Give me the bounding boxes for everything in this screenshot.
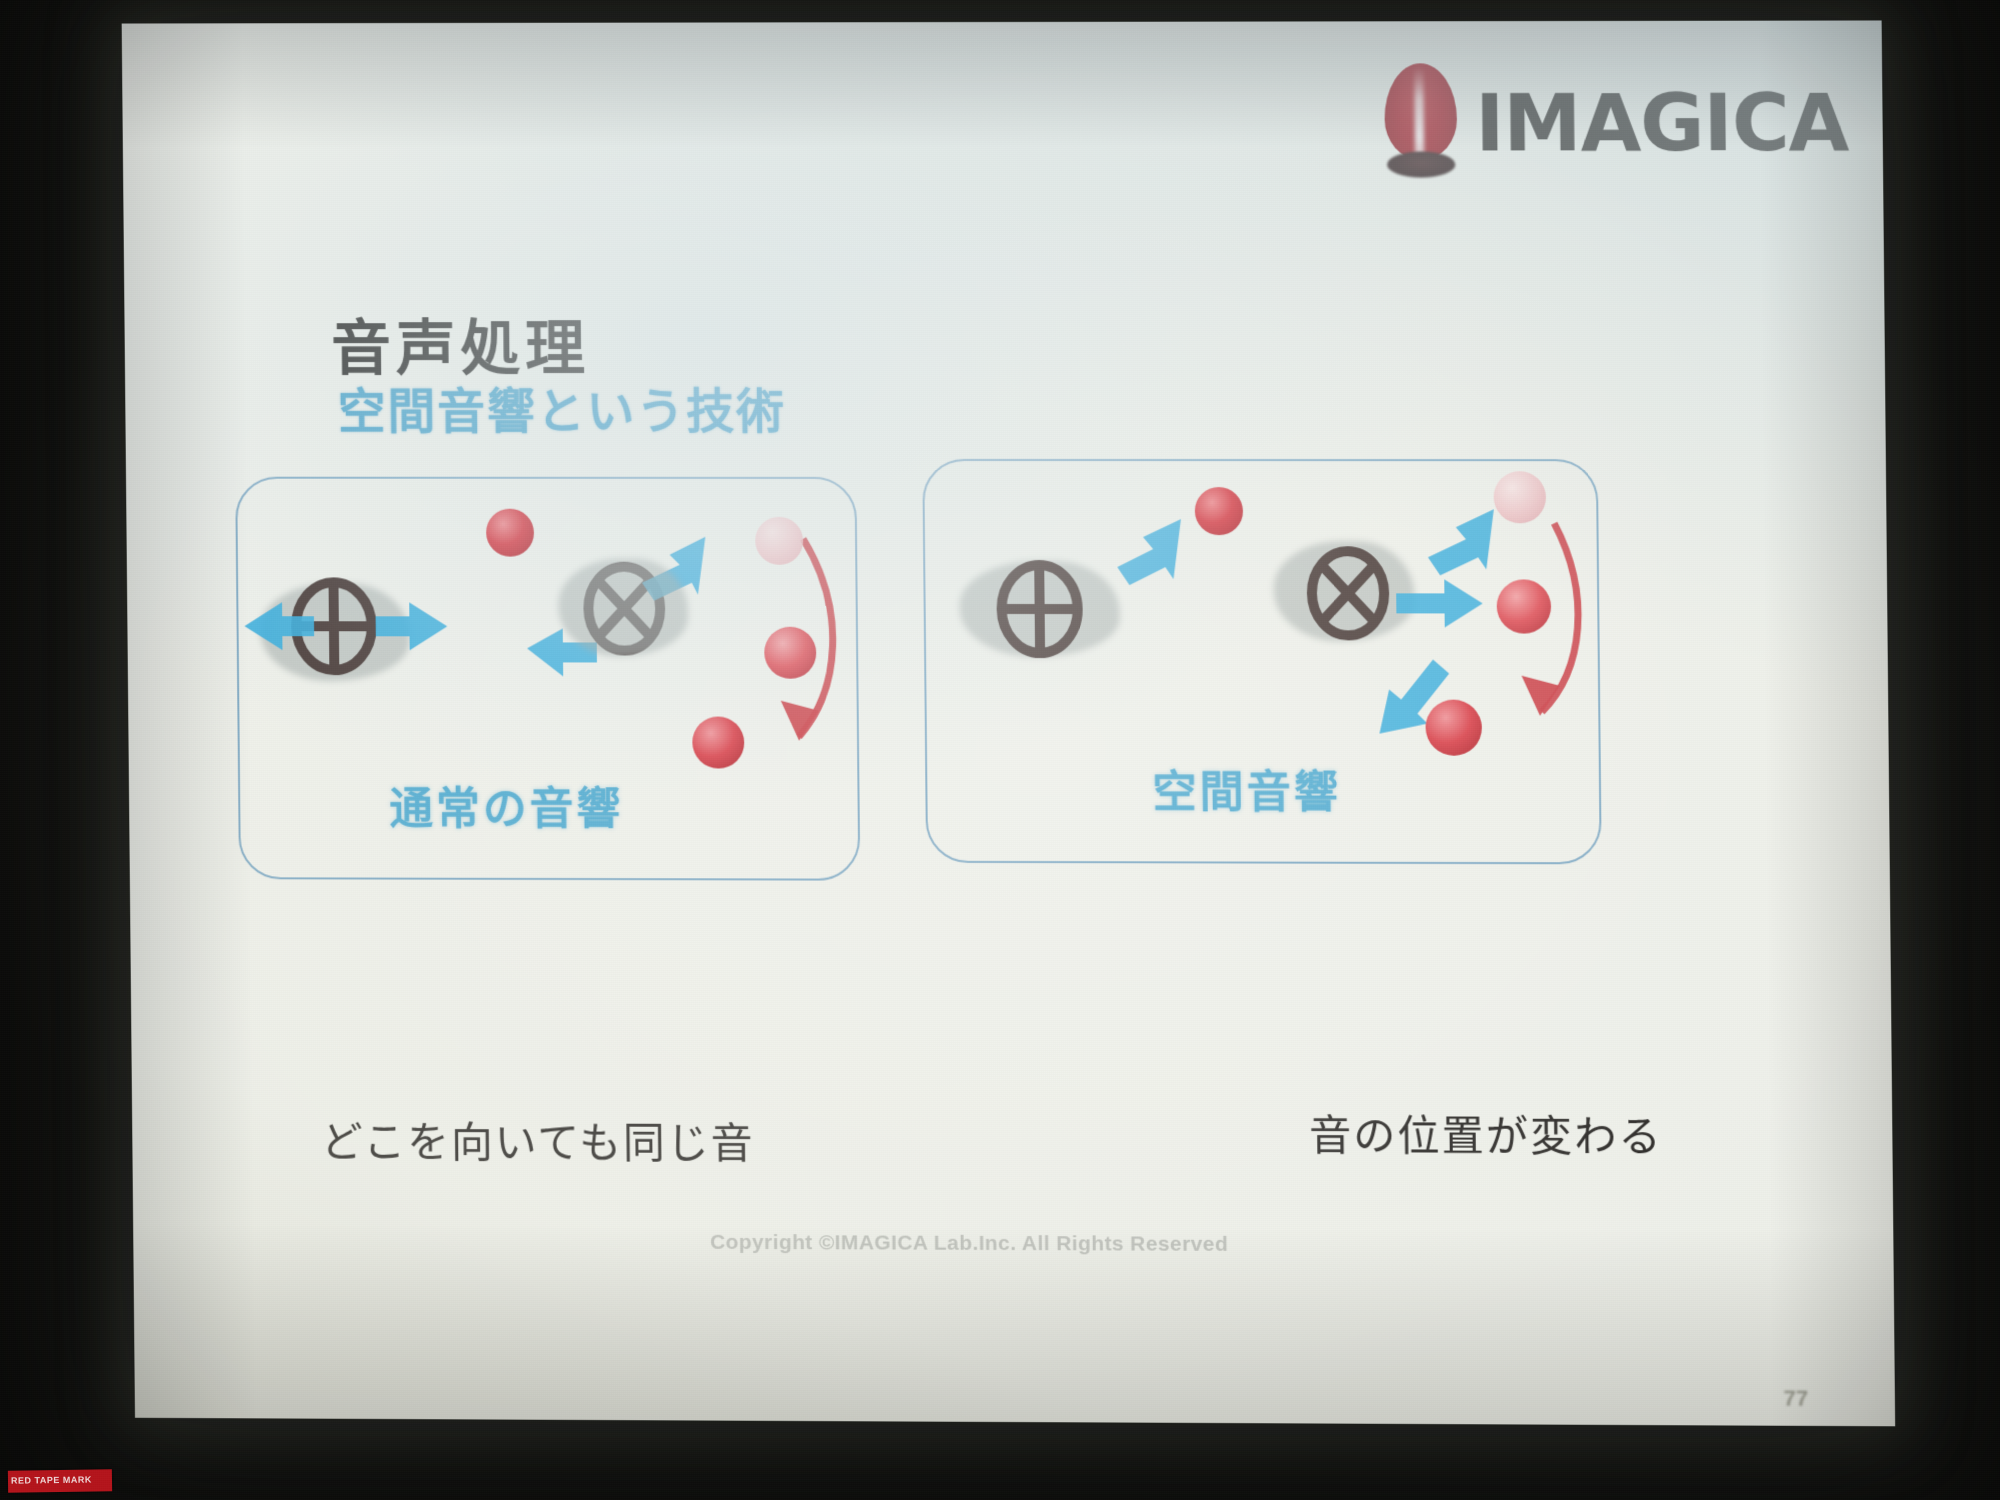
panel-label-spatial: 空間音響 — [1152, 756, 1341, 820]
shoulders-blob-right-b — [1273, 541, 1414, 641]
caption-normal: どこを向いても同じ音 — [321, 1115, 819, 1172]
sound-source-ball — [1195, 487, 1244, 535]
sound-source-ball — [486, 509, 534, 557]
sound-source-ball-mid — [1496, 579, 1551, 633]
copyright-notice: Copyright ©IMAGICA Lab.Inc. All Rights R… — [710, 1231, 1228, 1257]
red-tape-marker: RED TAPE MARK — [8, 1469, 112, 1492]
sound-source-ball-faded — [755, 517, 803, 565]
sound-source-ball-low — [1425, 700, 1482, 756]
sound-arrow-diagonal-inbound — [1117, 519, 1182, 585]
caption-spatial: 音の位置が変わる — [1309, 1108, 1832, 1165]
imagica-wordmark: IMAGICA — [1475, 85, 1849, 164]
panel-label-normal: 通常の音響 — [389, 773, 624, 837]
shoulders-blob-left-b — [558, 559, 688, 657]
page-number: 77 — [1783, 1386, 1808, 1412]
red-tape-label: RED TAPE MARK — [8, 1469, 112, 1490]
projection-screen: IMAGICA 音声処理 空間音響という技術 — [122, 20, 1896, 1426]
sound-source-ball-low — [692, 717, 744, 769]
imagica-flame-icon — [1382, 63, 1459, 185]
panel-normal-acoustics: 通常の音響 — [235, 477, 860, 881]
panel-spatial-acoustics: 空間音響 — [922, 459, 1602, 864]
flame-base-shadow — [1387, 151, 1456, 177]
imagica-logo: IMAGICA — [1382, 63, 1849, 186]
sound-source-ball-mid — [764, 627, 816, 679]
shoulders-blob-left-a — [260, 583, 410, 681]
sound-source-ball-faded — [1493, 471, 1546, 523]
presentation-slide: IMAGICA 音声処理 空間音響という技術 — [122, 20, 1896, 1426]
slide-subtitle: 空間音響という技術 — [337, 372, 786, 442]
sound-arrow-top-right — [1428, 509, 1495, 575]
shoulders-blob-right-a — [959, 561, 1120, 657]
projected-slide-photo: IMAGICA 音声処理 空間音響という技術 — [0, 0, 2000, 1500]
